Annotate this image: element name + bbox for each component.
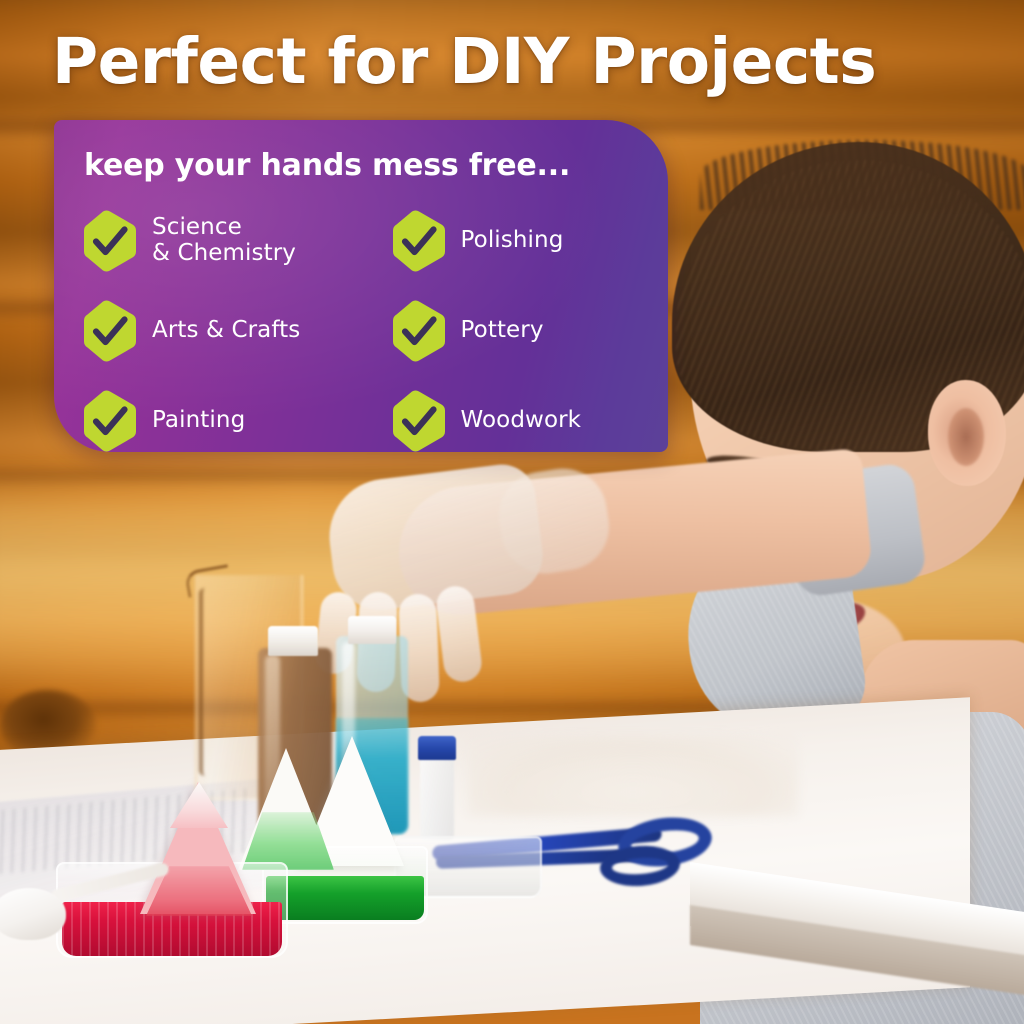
feature-columns: Science & Chemistry Arts & Crafts [82, 200, 650, 452]
feature-label: Pottery [461, 318, 544, 344]
boy-ear-inner [948, 408, 984, 466]
feature-label: Woodwork [461, 408, 582, 434]
check-badge-icon [82, 210, 138, 272]
check-badge-icon [391, 390, 447, 452]
check-badge-icon [82, 390, 138, 452]
napkin [468, 736, 798, 816]
vial-blue-cap [418, 736, 456, 760]
feature-column-right: Polishing Pottery [391, 200, 651, 452]
boy-hair-spikes [700, 140, 1024, 210]
feature-label: Painting [152, 408, 245, 434]
feature-label: Science & Chemistry [152, 215, 296, 267]
green-liquid [266, 876, 424, 920]
feature-column-left: Science & Chemistry Arts & Crafts [82, 200, 373, 452]
feature-item-arts-crafts: Arts & Crafts [82, 290, 373, 372]
check-badge-icon [82, 300, 138, 362]
teal-bottle-cap [348, 616, 396, 644]
feature-panel: keep your hands mess free... Science & C… [54, 120, 668, 452]
feature-item-science-chemistry: Science & Chemistry [82, 200, 373, 282]
check-badge-icon [391, 210, 447, 272]
sample-vial [420, 754, 454, 840]
beaker-handle [199, 588, 219, 776]
product-infographic: Perfect for DIY Projects keep your hands… [0, 0, 1024, 1024]
feature-label: Arts & Crafts [152, 318, 300, 344]
white-measuring-spoon [0, 888, 66, 940]
feature-item-pottery: Pottery [391, 290, 651, 372]
feature-item-polishing: Polishing [391, 200, 651, 282]
check-badge-icon [391, 300, 447, 362]
amber-bottle-cap [268, 626, 318, 656]
feature-label: Polishing [461, 228, 564, 254]
feature-item-woodwork: Woodwork [391, 380, 651, 452]
feature-item-painting: Painting [82, 380, 373, 452]
panel-subtitle: keep your hands mess free... [84, 148, 570, 183]
page-title: Perfect for DIY Projects [52, 30, 932, 93]
